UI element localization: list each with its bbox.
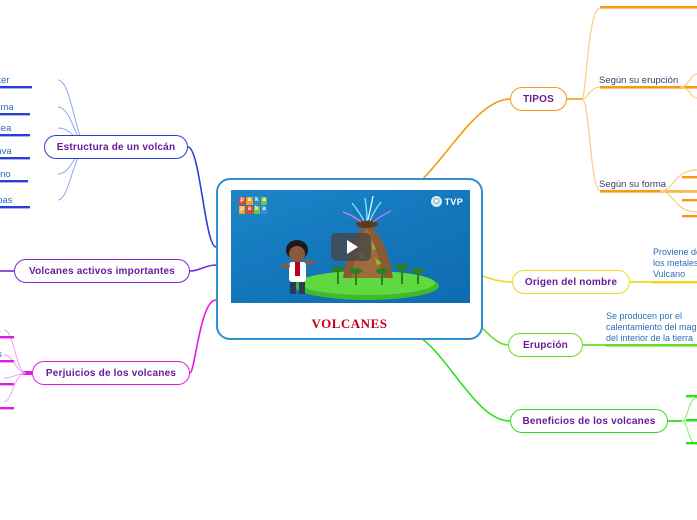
broadcaster-logo: TVP [431,196,463,207]
leaf-estructura-magma[interactable]: Magma [0,101,32,114]
leaf-perjuicios-derrumbes[interactable]: Derrumbes [0,348,16,361]
branch-node-tipos[interactable]: TIPOS [510,87,567,111]
branch-node-volcanes-activos[interactable]: Volcanes activos importantes [14,259,190,283]
branch-label-origen: Origen del nombre [525,277,617,288]
logo-tile: p [239,206,245,214]
play-icon [347,240,358,254]
central-topic[interactable]: p a k a p a k a TVP VOLCANES [216,178,483,340]
leaf-label: Según su erupción [599,75,678,86]
leaf-label: Capas [0,195,12,206]
logo-tile: a [246,197,252,205]
branch-node-perjuicios[interactable]: Perjuicios de los volcanes [32,361,190,385]
leaf-label: Proviene de los metales Vulcano [653,247,697,280]
play-button[interactable] [331,233,371,261]
branch-label-erupcion: Erupción [523,340,568,351]
leaf-label: Lava [0,146,12,157]
logo-tile: k [254,197,260,205]
tv-publica-orb-icon [431,196,442,207]
leaf-perjuicios-inundaciones[interactable]: Inundaciones [0,371,16,384]
leaf-estructura-cono[interactable]: Cono [0,168,30,181]
paka-paka-logo: p a k a p a k a [239,197,267,214]
leaf-estructura-lava[interactable]: Lava [0,145,33,158]
leaf-perjuicios-ceniza[interactable]: Ceniza [0,395,16,408]
leaf-estructura-capas[interactable]: Capas [0,194,33,207]
leaf-erupcion-descripcion[interactable]: Se producen por el calentamiento del mag… [606,309,697,345]
leaf-tipos-segun-forma[interactable]: Según su forma [599,178,697,191]
broadcaster-label: TVP [445,197,463,207]
leaf-label: Cráter [0,75,9,86]
logo-tile: k [254,206,260,214]
leaf-estructura-chimenea[interactable]: Chimenea [0,122,32,135]
video-thumbnail[interactable]: p a k a p a k a TVP [231,190,470,303]
leaf-perjuicios-incendios[interactable]: Incendios [0,324,16,337]
leaf-label: Derrumbes [0,349,2,360]
leaf-estructura-crater[interactable]: Cráter [0,74,33,87]
central-topic-caption: VOLCANES [218,316,481,332]
leaf-label: Cono [0,169,11,180]
leaf-label: Chimenea [0,123,11,134]
leaf-label: Según su forma [599,179,666,190]
branch-label-beneficios: Beneficios de los volcanes [522,416,655,427]
leaf-label: Incendios [0,325,1,336]
leaf-tipos-segun-erupcion[interactable]: Según su erupción [599,74,697,87]
branch-label-estructura: Estructura de un volcán [57,142,176,153]
logo-tile: a [246,206,252,214]
branch-node-origen[interactable]: Origen del nombre [512,270,630,294]
branch-label-tipos: TIPOS [523,94,554,105]
branch-label-volcanes-activos: Volcanes activos importantes [29,266,175,277]
leaf-origen-descripcion[interactable]: Proviene de los metales Vulcano [653,241,697,281]
branch-node-beneficios[interactable]: Beneficios de los volcanes [510,409,668,433]
logo-tile: a [261,197,267,205]
branch-node-erupcion[interactable]: Erupción [508,333,583,357]
branch-node-estructura[interactable]: Estructura de un volcán [44,135,188,159]
mindmap-canvas[interactable]: p a k a p a k a TVP VOLCANES Estructura … [0,0,697,520]
branch-label-perjuicios: Perjuicios de los volcanes [46,368,176,379]
logo-tile: a [261,206,267,214]
leaf-label: Magma [0,102,14,113]
leaf-label: Se producen por el calentamiento del mag… [606,311,697,344]
logo-tile: p [239,197,245,205]
